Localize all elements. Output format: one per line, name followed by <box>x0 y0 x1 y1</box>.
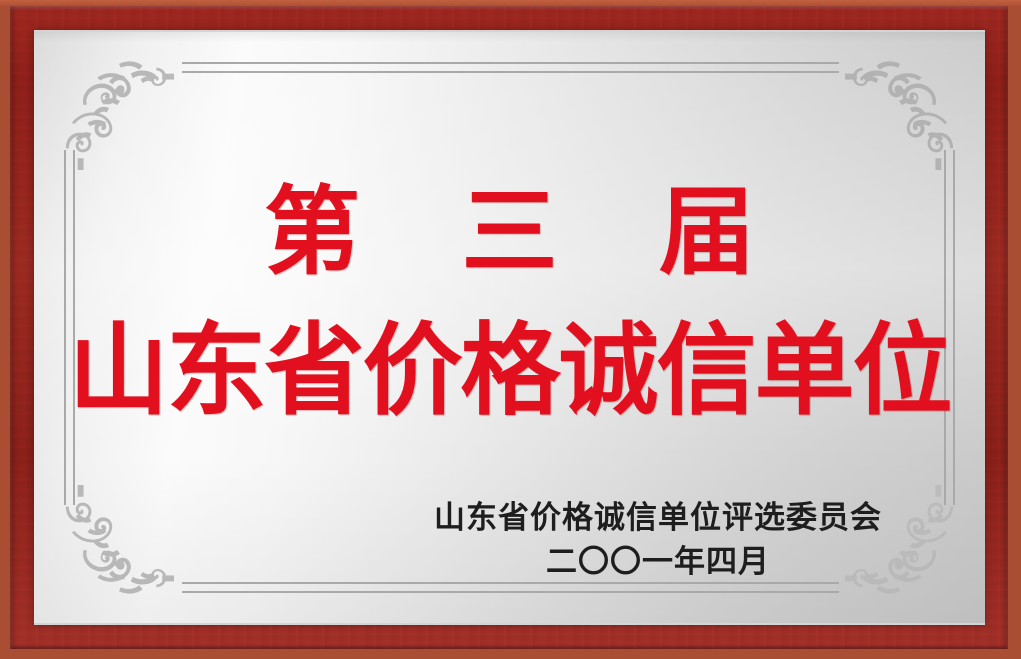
award-title: 山东省价格诚信单位 <box>34 314 985 426</box>
border-rule-left <box>64 150 75 505</box>
award-plaque: 第 三 届 山东省价格诚信单位 山东省价格诚信单位评选委员会 二〇〇一年四月 <box>0 0 1021 659</box>
issue-date: 二〇〇一年四月 <box>434 544 882 580</box>
floral-scroll-ornament-icon <box>58 54 176 172</box>
floral-scroll-ornament-icon <box>843 54 961 172</box>
floral-scroll-ornament-icon <box>843 483 961 601</box>
series-title: 第 三 届 <box>34 180 985 284</box>
metal-plate: 第 三 届 山东省价格诚信单位 山东省价格诚信单位评选委员会 二〇〇一年四月 <box>34 32 985 623</box>
border-rule-top <box>182 62 839 73</box>
issuing-organization: 山东省价格诚信单位评选委员会 <box>434 500 882 536</box>
border-rule-right <box>944 150 955 505</box>
border-rule-bottom <box>182 582 839 593</box>
signature-block: 山东省价格诚信单位评选委员会 二〇〇一年四月 <box>434 500 882 580</box>
floral-scroll-ornament-icon <box>58 483 176 601</box>
